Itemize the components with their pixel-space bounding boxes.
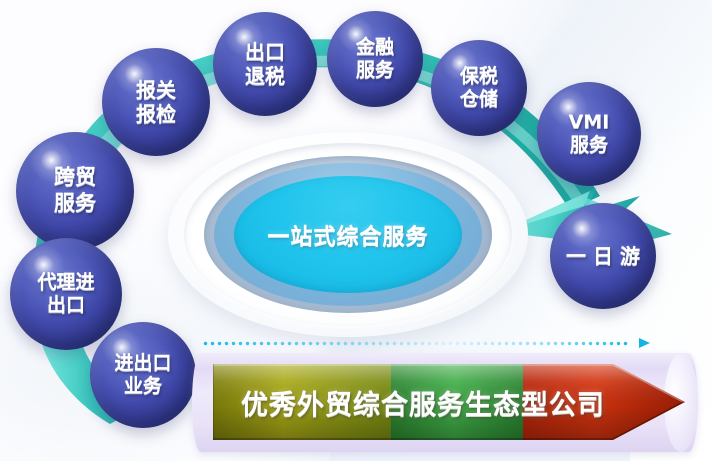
node-chukou[interactable]: 出口 退税 — [213, 12, 317, 116]
center-label: 一站式综合服务 — [168, 219, 528, 251]
node-dailijinchukou-line-1: 代理进 — [37, 271, 94, 294]
node-jinrong[interactable]: 金融 服务 — [327, 11, 423, 107]
center-hub: 一站式综合服务 — [168, 132, 528, 337]
node-jinchukouyewu[interactable]: 进出口 业务 — [90, 322, 196, 428]
node-kuamao-line-2: 服务 — [54, 191, 96, 217]
dotted-arrow-line — [202, 340, 650, 347]
node-chukou-line-2: 退税 — [245, 64, 285, 88]
node-kuamao[interactable]: 跨贸 服务 — [16, 132, 134, 250]
node-vmi-line-2: 服务 — [570, 134, 608, 157]
node-vmi[interactable]: VMI 服务 — [537, 82, 641, 186]
node-baoshui[interactable]: 保税 仓储 — [431, 40, 527, 136]
banner-label: 优秀外贸综合服务生态型公司 — [213, 364, 633, 440]
node-yiriyou-line-1: 一 日 游 — [566, 244, 640, 268]
node-baoshui-line-1: 保税 — [460, 65, 498, 88]
arrow-head-icon — [639, 338, 650, 348]
node-baoguan[interactable]: 报关 报检 — [102, 48, 210, 156]
node-jinrong-line-1: 金融 — [356, 36, 394, 59]
node-dailijinchukou-line-2: 出口 — [47, 294, 85, 317]
dotted-line-segment — [202, 341, 630, 346]
node-jinchukouyewu-line-1: 进出口 — [114, 352, 171, 375]
node-chukou-line-1: 出口 — [245, 40, 285, 64]
node-baoshui-line-2: 仓储 — [460, 88, 498, 111]
node-vmi-line-1: VMI — [569, 111, 610, 134]
node-kuamao-line-1: 跨贸 — [54, 165, 96, 191]
node-jinrong-line-2: 服务 — [356, 59, 394, 82]
node-dailijinchukou[interactable]: 代理进 出口 — [10, 238, 122, 350]
node-baoguan-line-2: 报检 — [136, 102, 176, 126]
node-baoguan-line-1: 报关 — [136, 78, 176, 102]
node-jinchukouyewu-line-2: 业务 — [124, 375, 162, 398]
infographic-canvas: 一站式综合服务 跨贸 服务 报关 报检 出口 退税 金融 服务 保税 仓储 VM… — [0, 0, 712, 461]
node-yiriyou[interactable]: 一 日 游 — [550, 203, 656, 309]
